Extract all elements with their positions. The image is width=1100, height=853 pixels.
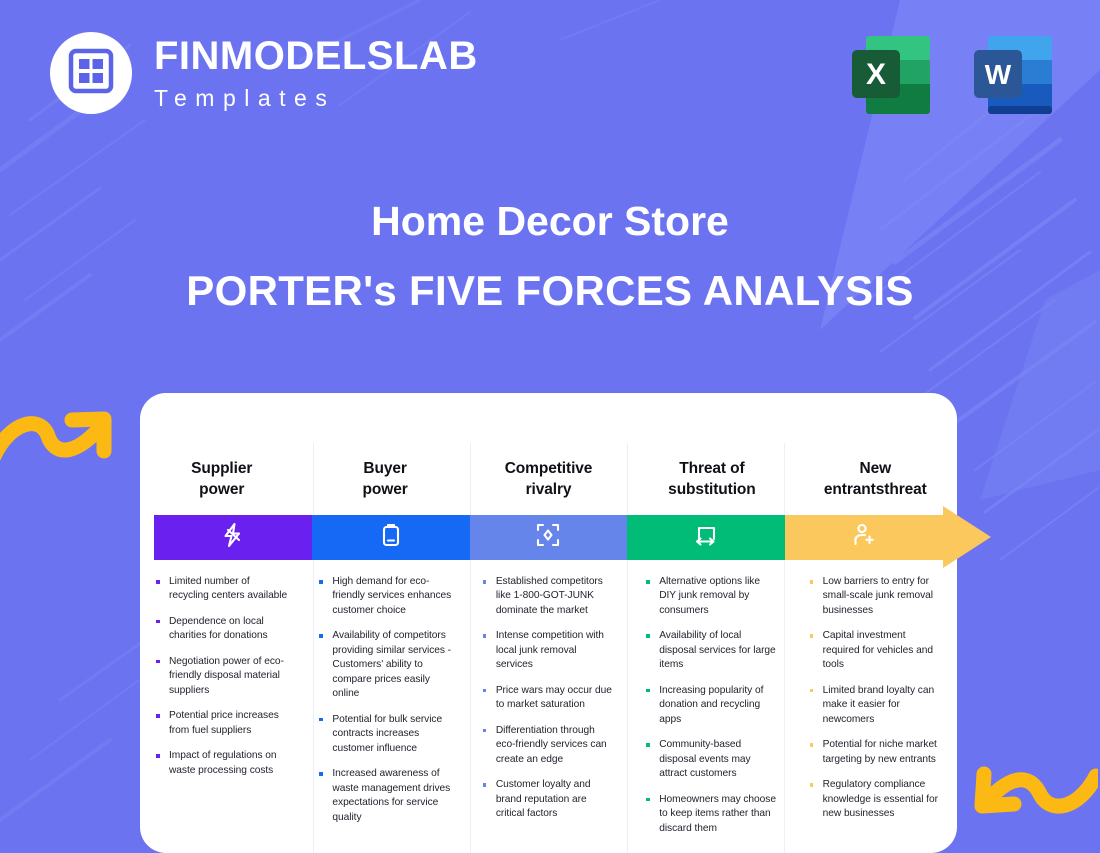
list-item: Increasing popularity of donation and re… [644, 684, 778, 727]
list-item: Potential for niche market targeting by … [808, 738, 942, 767]
header-line-1: Buyer [363, 460, 406, 477]
header-cell-competitive-rivalry: Competitive rivalry [467, 450, 630, 510]
svg-text:X: X [866, 58, 886, 91]
list-item: Community-based disposal events may attr… [644, 738, 778, 781]
bar-cell-new-entrants-threat [785, 515, 943, 560]
bar-cell-competitive-rivalry [470, 515, 628, 560]
bullet-list: Alternative options like DIY junk remova… [644, 575, 778, 836]
list-item: Dependence on local charities for donati… [154, 615, 288, 644]
list-item: Price wars may occur due to market satur… [481, 684, 615, 713]
target-focus-icon [534, 521, 562, 554]
list-item: Capital investment required for vehicles… [808, 629, 942, 672]
list-item: Homeowners may choose to keep items rath… [644, 793, 778, 836]
body-cell-supplier-power: Limited number of recycling centers avai… [140, 565, 303, 853]
header-line-1: New [860, 460, 892, 477]
squiggle-arrow-down-left-icon [958, 748, 1098, 843]
list-item: Potential price increases from fuel supp… [154, 709, 288, 738]
header-line-1: Supplier [191, 460, 252, 477]
forces-table: Supplier power Buyer power Competitive r… [140, 393, 957, 853]
header-cell-threat-of-substitution: Threat of substitution [630, 450, 793, 510]
header-line-1: Threat of [679, 460, 744, 477]
header-cell-new-entrants-threat: New entrantsthreat [794, 450, 957, 510]
brand-name: FINMODELSLAB [154, 36, 478, 76]
grid-squares-icon [68, 48, 114, 99]
header-line-2: rivalry [526, 481, 572, 498]
table-body-row: Limited number of recycling centers avai… [140, 565, 957, 853]
list-item: Increased awareness of waste management … [317, 767, 451, 825]
header-cell-buyer-power: Buyer power [303, 450, 466, 510]
brand-logo: FINMODELSLAB Templates [50, 32, 478, 114]
list-item: Negotiation power of eco-friendly dispos… [154, 655, 288, 698]
clipboard-icon [378, 522, 404, 553]
forces-color-bar [154, 515, 943, 560]
list-item: Limited brand loyalty can make it easier… [808, 684, 942, 727]
list-item: Availability of competitors providing si… [317, 629, 451, 701]
bar-cell-threat-of-substitution [627, 515, 785, 560]
bullet-list: Established competitors like 1-800-GOT-J… [481, 575, 615, 822]
squiggle-arrow-up-right-icon [0, 404, 127, 484]
header-line-2: power [199, 481, 244, 498]
body-cell-new-entrants-threat: Low barriers to entry for small-scale ju… [794, 565, 957, 853]
logo-circle [50, 32, 132, 114]
title-block: Home Decor Store PORTER's FIVE FORCES AN… [0, 198, 1100, 315]
brand-subtitle: Templates [154, 87, 478, 110]
body-cell-buyer-power: High demand for eco-friendly services en… [303, 565, 466, 853]
bullet-list: Limited number of recycling centers avai… [154, 575, 288, 778]
header-line-1: Competitive [505, 460, 593, 477]
add-user-icon [850, 521, 878, 554]
list-item: Intense competition with local junk remo… [481, 629, 615, 672]
lightning-bolt-icon [220, 522, 246, 553]
list-item: Low barriers to entry for small-scale ju… [808, 575, 942, 618]
list-item: Alternative options like DIY junk remova… [644, 575, 778, 618]
list-item: Differentiation through eco-friendly ser… [481, 724, 615, 767]
bar-arrow-head [943, 506, 991, 568]
page-subtitle: Home Decor Store [0, 198, 1100, 245]
bullet-list: Low barriers to entry for small-scale ju… [808, 575, 942, 822]
list-item: Potential for bulk service contracts inc… [317, 713, 451, 756]
header-line-2: entrantsthreat [824, 481, 927, 498]
bullet-list: High demand for eco-friendly services en… [317, 575, 451, 825]
body-cell-threat-of-substitution: Alternative options like DIY junk remova… [630, 565, 793, 853]
list-item: Regulatory compliance knowledge is essen… [808, 778, 942, 821]
header-line-2: power [363, 481, 408, 498]
bar-cell-buyer-power [312, 515, 470, 560]
list-item: High demand for eco-friendly services en… [317, 575, 451, 618]
header-cell-supplier-power: Supplier power [140, 450, 303, 510]
list-item: Impact of regulations on waste processin… [154, 749, 288, 778]
list-item: Limited number of recycling centers avai… [154, 575, 288, 604]
word-icon[interactable]: W [966, 28, 1060, 122]
porters-five-forces-card: Supplier power Buyer power Competitive r… [140, 393, 957, 853]
body-cell-competitive-rivalry: Established competitors like 1-800-GOT-J… [467, 565, 630, 853]
page-title: PORTER's FIVE FORCES ANALYSIS [0, 267, 1100, 315]
list-item: Customer loyalty and brand reputation ar… [481, 778, 615, 821]
list-item: Established competitors like 1-800-GOT-J… [481, 575, 615, 618]
office-icons-group: X W [844, 28, 1060, 122]
svg-text:W: W [985, 59, 1012, 90]
header-line-2: substitution [668, 481, 755, 498]
bar-cell-supplier-power [154, 515, 312, 560]
table-header-row: Supplier power Buyer power Competitive r… [140, 450, 957, 510]
exchange-arrows-icon [692, 521, 720, 554]
excel-icon[interactable]: X [844, 28, 938, 122]
list-item: Availability of local disposal services … [644, 629, 778, 672]
